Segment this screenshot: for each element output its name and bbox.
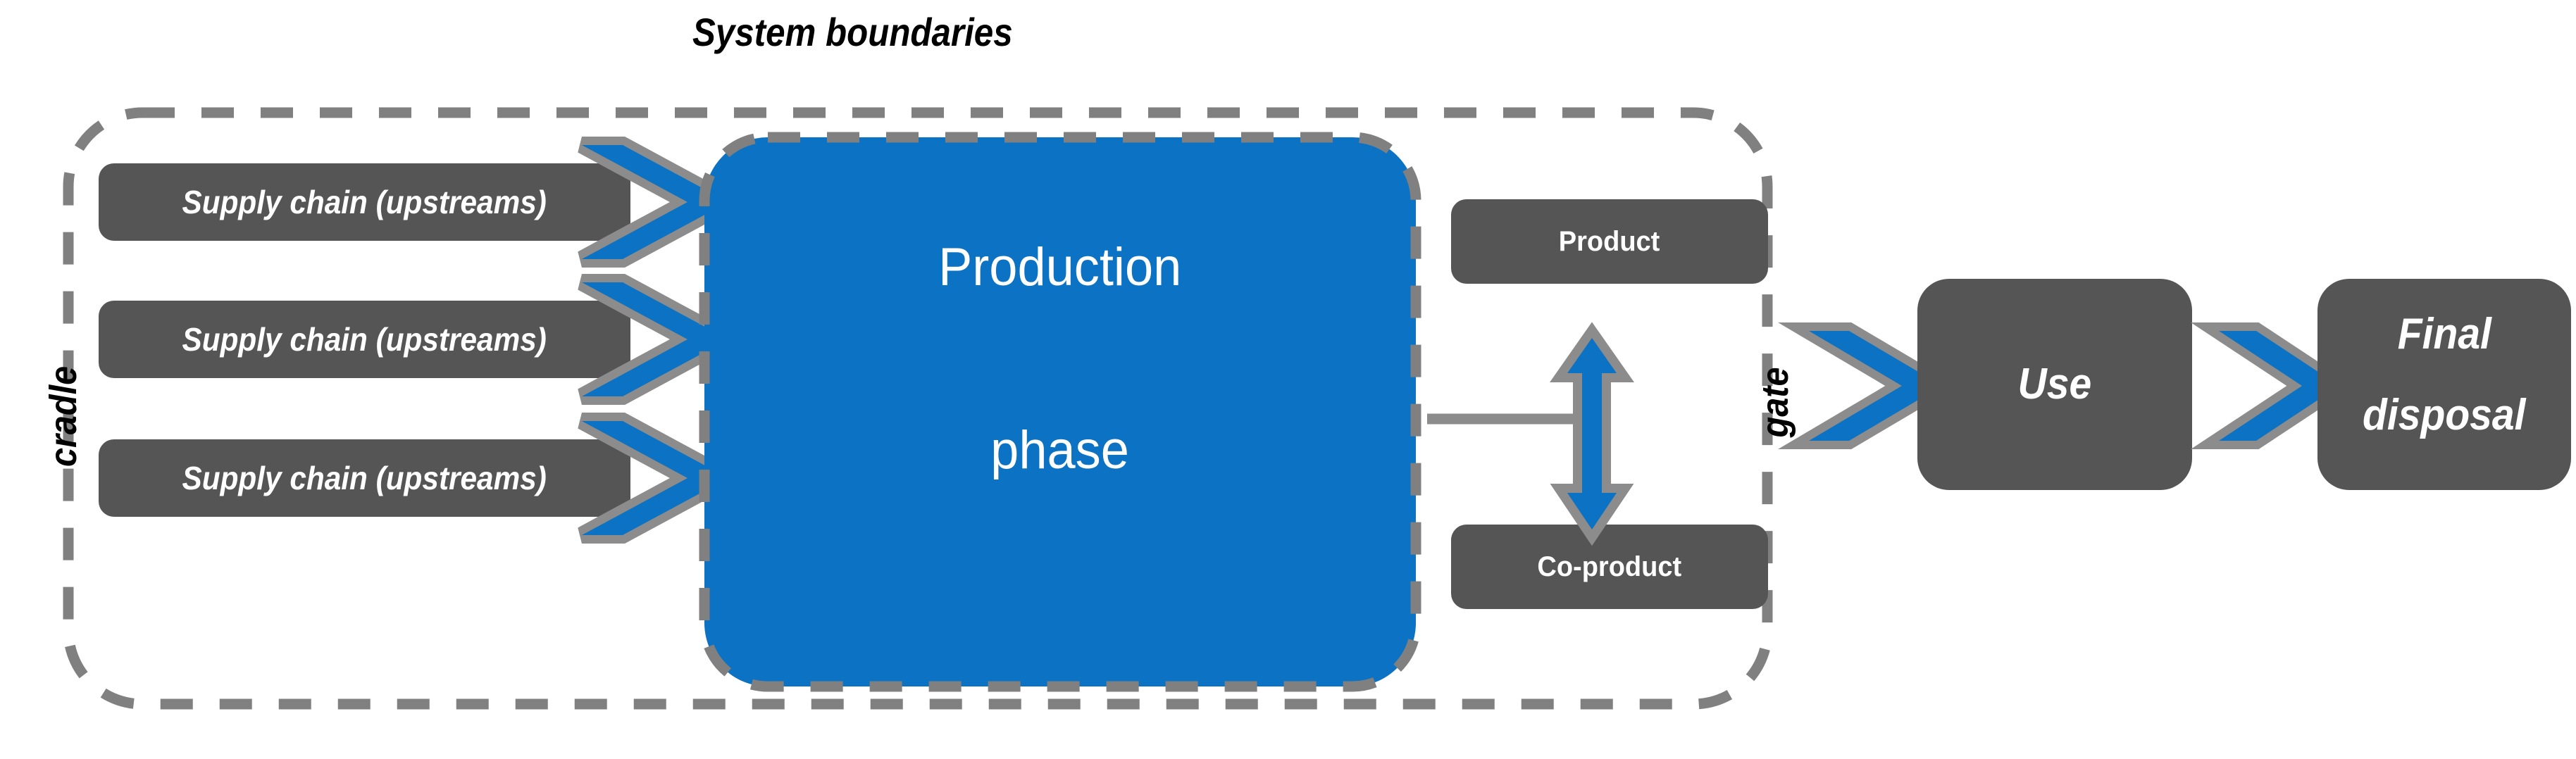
use-box[interactable] xyxy=(1917,279,2192,490)
gate-label: gate xyxy=(1753,335,1797,469)
cradle-label-text: cradle xyxy=(42,365,85,466)
diagram-canvas: System boundaries xyxy=(0,0,2576,759)
supply-chain-box-2[interactable] xyxy=(99,301,630,378)
co-product-box[interactable] xyxy=(1451,525,1768,609)
product-box[interactable] xyxy=(1451,199,1768,284)
diagram-shapes-layer xyxy=(0,0,2576,759)
supply-chain-box-1[interactable] xyxy=(99,163,630,241)
allocation-double-arrow xyxy=(1567,338,1617,529)
supply-chain-box-3[interactable] xyxy=(99,439,630,517)
cradle-label: cradle xyxy=(42,325,85,508)
production-phase-box[interactable] xyxy=(704,137,1416,686)
final-disposal-box[interactable] xyxy=(2317,279,2571,490)
gate-label-text: gate xyxy=(1753,367,1797,437)
